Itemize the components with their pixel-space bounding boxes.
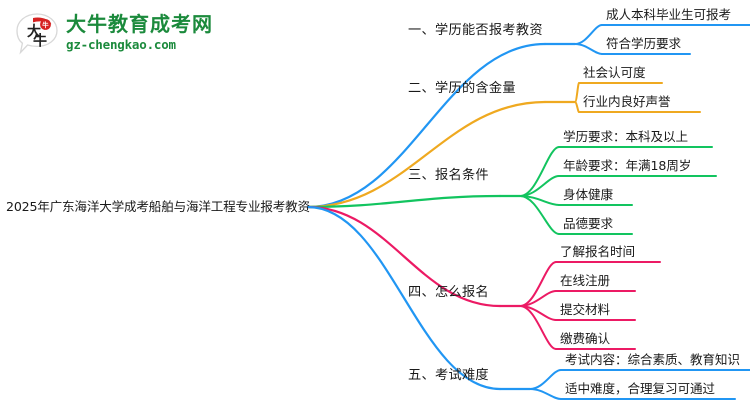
branch-label-3[interactable]: 三、报名条件 (408, 168, 489, 184)
leaf-label-2-2[interactable]: 行业内良好声誉 (583, 94, 670, 109)
leaf-label-4-2[interactable]: 在线注册 (560, 273, 610, 288)
branch-label-1[interactable]: 一、学历能否报考教资 (408, 23, 543, 39)
leaf-label-5-1[interactable]: 考试内容：综合素质、教育知识 (565, 352, 740, 367)
branch-label-5[interactable]: 五、考试难度 (408, 368, 489, 384)
leaf-label-4-3[interactable]: 提交材料 (560, 302, 610, 317)
leaf-label-1-2[interactable]: 符合学历要求 (606, 36, 681, 51)
leaf-label-4-1[interactable]: 了解报名时间 (560, 244, 635, 259)
branch-label-2[interactable]: 二、学历的含金量 (408, 81, 516, 97)
mindmap-labels: 2025年广东海洋大学成考船舶与海洋工程专业报考教资 一、学历能否报考教资成人本… (0, 0, 750, 410)
leaf-label-3-1[interactable]: 学历要求：本科及以上 (563, 129, 688, 144)
leaf-label-5-2[interactable]: 适中难度，合理复习可通过 (565, 381, 715, 396)
leaf-label-1-1[interactable]: 成人本科毕业生可报考 (606, 7, 731, 22)
leaf-label-4-4[interactable]: 缴费确认 (560, 331, 610, 346)
leaf-label-3-4[interactable]: 品德要求 (563, 216, 613, 231)
leaf-label-3-2[interactable]: 年龄要求：年满18周岁 (563, 158, 691, 173)
branch-label-4[interactable]: 四、怎么报名 (408, 285, 489, 301)
root-node-label[interactable]: 2025年广东海洋大学成考船舶与海洋工程专业报考教资 (6, 199, 310, 214)
leaf-label-3-3[interactable]: 身体健康 (563, 187, 613, 202)
leaf-label-2-1[interactable]: 社会认可度 (583, 65, 645, 80)
mindmap-canvas: 牛 大 牛 大牛教育成考网 gz-chengkao.com 2025年广东海洋大… (0, 0, 750, 410)
